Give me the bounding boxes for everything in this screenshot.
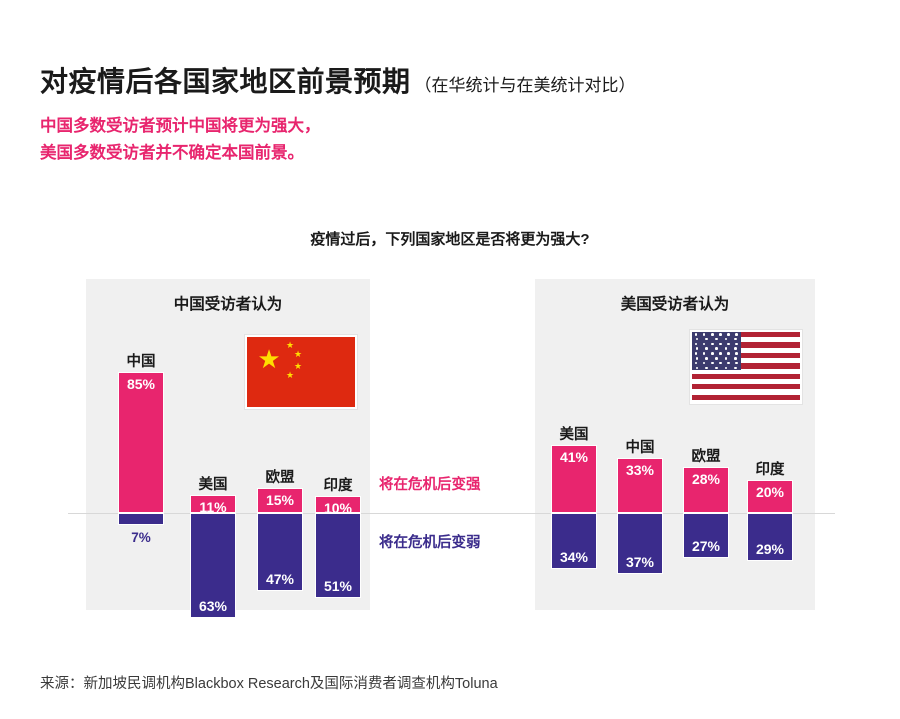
usa-flag-star bbox=[711, 352, 714, 355]
usa-flag-star bbox=[735, 333, 738, 336]
source-note: 来源：新加坡民调机构Blackbox Research及国际消费者调查机构Tol… bbox=[40, 672, 498, 693]
usa-flag-star bbox=[725, 347, 728, 350]
bar-category-label: 欧盟 bbox=[678, 445, 733, 466]
bar-segment-negative[interactable]: 37% bbox=[617, 513, 663, 574]
page-title: 对疫情后各国家地区前景预期 （在华统计与在美统计对比） bbox=[40, 60, 636, 100]
usa-flag-star bbox=[711, 362, 714, 365]
usa-flag-star bbox=[705, 367, 708, 370]
usa-flag-star bbox=[727, 362, 730, 365]
usa-flag-icon bbox=[690, 330, 802, 404]
usa-flag-star bbox=[735, 362, 738, 365]
china-flag-small-star-3: ★ bbox=[294, 362, 302, 371]
infographic-root: 对疫情后各国家地区前景预期 （在华统计与在美统计对比） 中国多数受访者预计中国将… bbox=[0, 0, 900, 719]
bar-segment-positive[interactable]: 33% bbox=[617, 458, 663, 513]
usa-flag-stripe bbox=[692, 384, 800, 389]
bar-value-positive: 15% bbox=[266, 492, 294, 508]
usa-flag-star bbox=[719, 333, 722, 336]
deck-line-2: 美国多数受访者并不确定本国前景。 bbox=[40, 140, 321, 167]
bar-segment-positive[interactable]: 20% bbox=[747, 480, 793, 513]
usa-flag-star bbox=[735, 352, 738, 355]
bar-segment-negative[interactable]: 34% bbox=[551, 513, 597, 569]
bar-segment-negative[interactable]: 51% bbox=[315, 513, 361, 598]
usa-flag-star bbox=[711, 333, 714, 336]
usa-flag-star bbox=[734, 357, 737, 360]
usa-flag-star bbox=[696, 338, 699, 341]
bar-segment-negative[interactable]: 47% bbox=[257, 513, 303, 591]
bar-segment-positive[interactable]: 28% bbox=[683, 467, 729, 513]
bar-value-negative: 29% bbox=[756, 541, 784, 557]
title-subtitle-text: （在华统计与在美统计对比） bbox=[415, 71, 636, 96]
bar-segment-positive[interactable]: 41% bbox=[551, 445, 597, 513]
usa-flag-star bbox=[711, 343, 714, 346]
usa-flag-star bbox=[703, 352, 706, 355]
usa-flag-star bbox=[715, 338, 718, 341]
bar-value-negative: 27% bbox=[692, 538, 720, 554]
bar-segment-negative[interactable] bbox=[118, 513, 164, 525]
bar-group[interactable]: 印度10%51% bbox=[315, 496, 361, 597]
usa-flag-star bbox=[703, 362, 706, 365]
usa-flag-star bbox=[696, 347, 699, 350]
bar-value-positive: 85% bbox=[127, 376, 155, 392]
china-flag-small-star-2: ★ bbox=[294, 350, 302, 359]
bar-group[interactable]: 中国85%7% bbox=[118, 372, 164, 525]
usa-flag-stripe bbox=[692, 374, 800, 379]
usa-flag-star bbox=[705, 357, 708, 360]
usa-flag-star-row bbox=[692, 366, 741, 371]
usa-flag-star bbox=[719, 352, 722, 355]
bar-segment-positive[interactable]: 11% bbox=[190, 495, 236, 513]
usa-flag-star bbox=[705, 347, 708, 350]
usa-flag-star bbox=[703, 333, 706, 336]
bar-category-label: 美国 bbox=[185, 473, 240, 494]
deck-summary: 中国多数受访者预计中国将更为强大， 美国多数受访者并不确定本国前景。 bbox=[40, 113, 321, 166]
bar-value-negative: 37% bbox=[626, 554, 654, 570]
bar-category-label: 美国 bbox=[546, 423, 601, 444]
panel-left-title: 中国受访者认为 bbox=[86, 292, 370, 314]
usa-flag-star bbox=[719, 362, 722, 365]
bar-category-label: 欧盟 bbox=[252, 466, 307, 487]
bar-value-negative: 63% bbox=[199, 598, 227, 614]
legend-positive: 将在危机后变强 bbox=[379, 473, 481, 494]
china-flag-big-star: ★ bbox=[256, 346, 282, 372]
bar-segment-negative[interactable]: 27% bbox=[683, 513, 729, 558]
bar-group[interactable]: 印度20%29% bbox=[747, 480, 793, 561]
usa-flag-star bbox=[695, 343, 698, 346]
bar-value-negative: 7% bbox=[109, 530, 173, 545]
usa-flag-star bbox=[725, 367, 728, 370]
bar-group[interactable]: 美国11%63% bbox=[190, 495, 236, 618]
bar-value-negative: 47% bbox=[266, 571, 294, 587]
usa-flag-star bbox=[725, 338, 728, 341]
bar-segment-positive[interactable]: 10% bbox=[315, 496, 361, 513]
bar-group[interactable]: 欧盟28%27% bbox=[683, 467, 729, 558]
bar-category-label: 中国 bbox=[113, 350, 168, 371]
usa-flag-canton bbox=[692, 332, 741, 370]
china-flag-small-star-4: ★ bbox=[286, 371, 294, 380]
usa-flag-star bbox=[696, 367, 699, 370]
legend-negative: 将在危机后变弱 bbox=[379, 531, 481, 552]
usa-flag-star bbox=[703, 343, 706, 346]
panel-right-title: 美国受访者认为 bbox=[535, 292, 815, 314]
usa-flag-star bbox=[727, 352, 730, 355]
bar-value-positive: 33% bbox=[626, 462, 654, 478]
chart-question: 疫情过后，下列国家地区是否将更为强大? bbox=[0, 228, 900, 249]
bar-value-positive: 28% bbox=[692, 471, 720, 487]
usa-flag-star bbox=[715, 367, 718, 370]
usa-flag-star bbox=[727, 333, 730, 336]
usa-flag-star bbox=[719, 343, 722, 346]
usa-flag-star bbox=[725, 357, 728, 360]
usa-flag-star bbox=[696, 357, 699, 360]
china-flag-icon: ★ ★ ★ ★ ★ bbox=[245, 335, 357, 409]
title-main-text: 对疫情后各国家地区前景预期 bbox=[40, 60, 411, 100]
bar-value-negative: 34% bbox=[560, 549, 588, 565]
usa-flag-stripe bbox=[692, 395, 800, 400]
bar-group[interactable]: 中国33%37% bbox=[617, 458, 663, 574]
bar-segment-negative[interactable]: 29% bbox=[747, 513, 793, 561]
usa-flag-star bbox=[695, 352, 698, 355]
bar-category-label: 印度 bbox=[742, 458, 797, 479]
usa-flag-star bbox=[734, 338, 737, 341]
bar-group[interactable]: 欧盟15%47% bbox=[257, 488, 303, 591]
bar-value-negative: 51% bbox=[324, 578, 352, 594]
bar-segment-positive[interactable]: 15% bbox=[257, 488, 303, 513]
usa-flag-star bbox=[715, 357, 718, 360]
usa-flag-star bbox=[727, 343, 730, 346]
usa-flag-star bbox=[705, 338, 708, 341]
bar-value-positive: 20% bbox=[756, 484, 784, 500]
usa-flag-star bbox=[695, 333, 698, 336]
bar-group[interactable]: 美国41%34% bbox=[551, 445, 597, 570]
usa-flag-star bbox=[734, 367, 737, 370]
bar-segment-positive[interactable]: 85% bbox=[118, 372, 164, 513]
bar-category-label: 中国 bbox=[612, 436, 667, 457]
usa-flag-star bbox=[735, 343, 738, 346]
bar-segment-negative[interactable]: 63% bbox=[190, 513, 236, 618]
bar-value-positive: 41% bbox=[560, 449, 588, 465]
usa-flag-star bbox=[715, 347, 718, 350]
china-flag-small-star-1: ★ bbox=[286, 341, 294, 350]
bar-category-label: 印度 bbox=[310, 474, 365, 495]
deck-line-1: 中国多数受访者预计中国将更为强大， bbox=[40, 113, 321, 140]
usa-flag-star bbox=[734, 347, 737, 350]
usa-flag-star bbox=[695, 362, 698, 365]
